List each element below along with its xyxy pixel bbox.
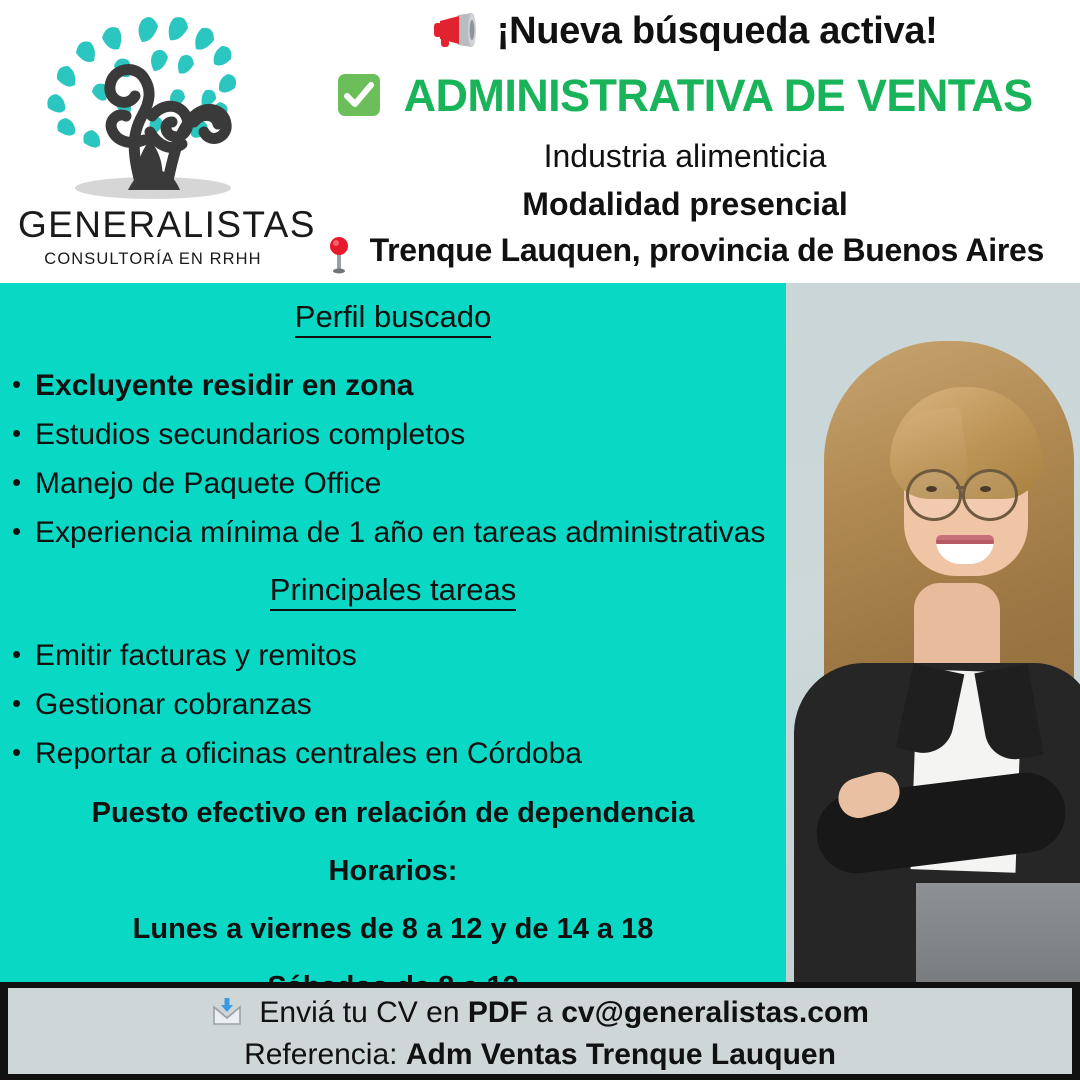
list-item-label: Experiencia mínima de 1 año en tareas ad…	[35, 518, 765, 548]
bullet-icon: •	[12, 739, 35, 766]
tree-icon	[32, 12, 274, 202]
cv-middle: a	[528, 996, 561, 1029]
tasks-heading: Principales tareas	[0, 572, 786, 608]
list-item-label: Gestionar cobranzas	[35, 690, 312, 720]
header-text-column: ¡Nueva búsqueda activa! ADMINISTRATIVA D…	[290, 0, 1080, 283]
photo-eye-right	[980, 486, 991, 492]
list-item-label: Excluyente residir en zona	[35, 371, 413, 401]
bullet-icon: •	[12, 371, 35, 398]
cv-format: PDF	[468, 996, 528, 1029]
brand-name: GENERALISTAS	[18, 206, 288, 243]
cv-email[interactable]: cv@generalistas.com	[561, 996, 869, 1029]
location-line: Trenque Lauquen, provincia de Buenos Air…	[290, 232, 1080, 272]
bullet-icon: •	[12, 420, 35, 447]
list-item-label: Estudios secundarios completos	[35, 420, 465, 450]
profile-heading: Perfil buscado	[0, 299, 786, 335]
condition-line: Horarios:	[0, 857, 786, 886]
brand-tagline: CONSULTORÍA EN RRHH	[18, 251, 288, 268]
location-pin-icon	[326, 236, 352, 274]
modality-line: Modalidad presencial	[290, 186, 1080, 223]
industry-line: Industria alimenticia	[290, 138, 1080, 175]
photo-eye-left	[926, 486, 937, 492]
cv-prefix: Enviá tu CV en	[259, 996, 467, 1029]
list-item: • Gestionar cobranzas	[12, 690, 786, 720]
list-item: • Excluyente residir en zona	[12, 371, 786, 401]
job-posting-poster: GENERALISTAS CONSULTORÍA EN RRHH ¡Nueva …	[0, 0, 1080, 1080]
photo-glasses-bridge	[956, 486, 964, 489]
list-item-label: Reportar a oficinas centrales en Córdoba	[35, 739, 582, 769]
job-title-line: ADMINISTRATIVA DE VENTAS	[290, 70, 1080, 122]
bullet-icon: •	[12, 641, 35, 668]
list-item: • Estudios secundarios completos	[12, 420, 786, 450]
list-item: • Manejo de Paquete Office	[12, 469, 786, 499]
bullet-icon: •	[12, 469, 35, 496]
header-section: GENERALISTAS CONSULTORÍA EN RRHH ¡Nueva …	[0, 0, 1080, 283]
location-text: Trenque Lauquen, provincia de Buenos Air…	[370, 232, 1044, 268]
announcement-line: ¡Nueva búsqueda activa!	[290, 10, 1080, 53]
inbox-tray-icon	[211, 997, 243, 1027]
photo-glasses-right	[962, 469, 1018, 521]
list-item-label: Manejo de Paquete Office	[35, 469, 381, 499]
tasks-list: • Emitir facturas y remitos • Gestionar …	[12, 641, 786, 788]
reference-value: Adm Ventas Trenque Lauquen	[406, 1038, 836, 1071]
condition-line: Puesto efectivo en relación de dependenc…	[0, 799, 786, 828]
condition-line: Lunes a viernes de 8 a 12 y de 14 a 18	[0, 915, 786, 944]
list-item: • Experiencia mínima de 1 año en tareas …	[12, 518, 786, 548]
list-item: • Emitir facturas y remitos	[12, 641, 786, 671]
photo-glasses-left	[906, 469, 962, 521]
candidate-photo	[786, 283, 1080, 982]
check-box-icon	[337, 73, 381, 117]
bullet-icon: •	[12, 690, 35, 717]
list-item-label: Emitir facturas y remitos	[35, 641, 357, 671]
footer-panel: Enviá tu CV en PDF a cv@generalistas.com…	[8, 988, 1072, 1074]
reference-label: Referencia:	[244, 1038, 406, 1071]
announcement-text: ¡Nueva búsqueda activa!	[497, 10, 938, 52]
reference-line: Referencia: Adm Ventas Trenque Lauquen	[8, 1038, 1072, 1072]
details-panel: Perfil buscado • Excluyente residir en z…	[0, 283, 786, 982]
megaphone-icon	[432, 12, 476, 48]
job-title-text: ADMINISTRATIVA DE VENTAS	[404, 70, 1033, 121]
list-item: • Reportar a oficinas centrales en Córdo…	[12, 739, 786, 769]
footer-section: Enviá tu CV en PDF a cv@generalistas.com…	[0, 982, 1080, 1080]
bullet-icon: •	[12, 518, 35, 545]
brand-logo-block: GENERALISTAS CONSULTORÍA EN RRHH	[18, 8, 288, 276]
cv-instruction-line: Enviá tu CV en PDF a cv@generalistas.com	[8, 996, 1072, 1030]
photo-jeans	[916, 883, 1080, 982]
profile-list: • Excluyente residir en zona • Estudios …	[12, 371, 786, 567]
